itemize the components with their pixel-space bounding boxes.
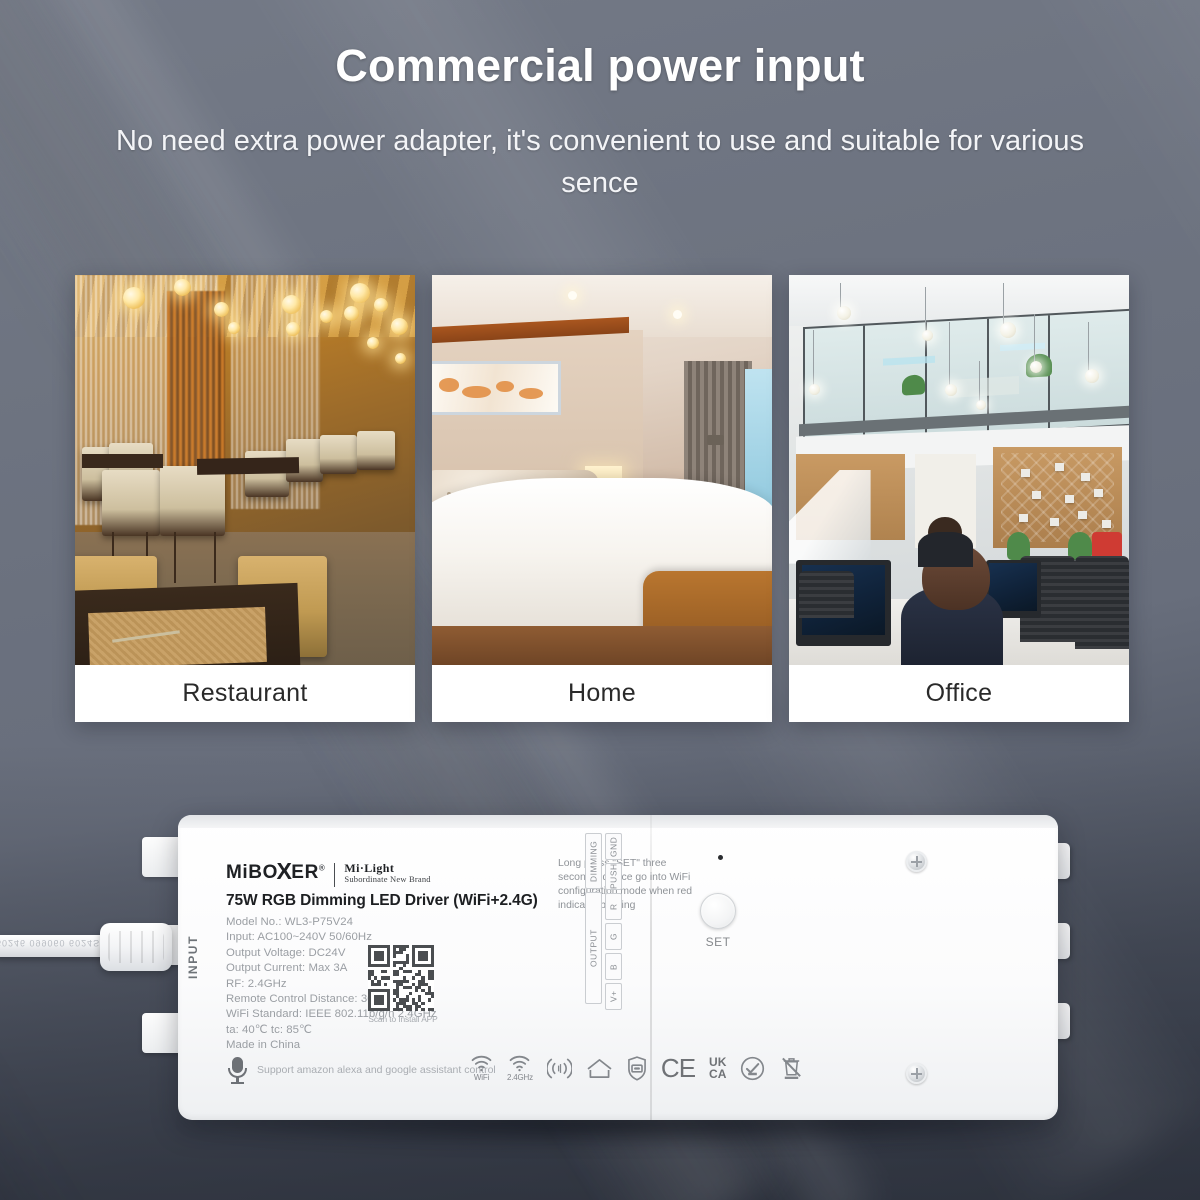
cable-strain-relief — [100, 923, 172, 971]
brand-name: MiBOXER® — [226, 862, 325, 884]
scene-card-list: Restaurant — [75, 275, 1130, 725]
ce-mark-icon: CE — [661, 1053, 695, 1084]
product-device: 60246 099060 6024S INPUT MiBOXER® Mi·Lig… — [0, 795, 1200, 1155]
terminal-pin-push: PUSH — [605, 863, 622, 890]
registered-mark: ® — [319, 864, 326, 873]
spec-item: Made in China — [226, 1038, 437, 1053]
sub-brand-name: Mi·Light — [344, 862, 430, 875]
terminal-block: DIMMING OUTPUT GND PUSH R G B V+ — [585, 833, 622, 1010]
ukca-mark-icon: UK CA — [709, 1057, 726, 1080]
weee-bin-icon — [779, 1056, 804, 1081]
scene-caption-home: Home — [432, 665, 772, 722]
terminal-pin-vplus: V+ — [605, 983, 622, 1010]
brand-logo: MiBOXER® Mi·Light Subordinate New Brand — [226, 862, 431, 887]
screw-top — [906, 851, 927, 872]
page-title: Commercial power input — [0, 40, 1200, 92]
qr-code[interactable] — [368, 945, 434, 1011]
spec-item: Input: AC100~240V 50/60Hz — [226, 930, 437, 945]
certification-icon-row: WiFi 2.4GHz — [470, 1053, 804, 1084]
rohs-check-icon — [740, 1056, 765, 1081]
input-port-label: INPUT — [186, 935, 200, 979]
spec-item: Model No.: WL3-P75V24 — [226, 915, 437, 930]
ukca-line2: CA — [709, 1069, 726, 1081]
scene-card-restaurant: Restaurant — [75, 275, 415, 722]
scene-card-home: Home — [432, 275, 772, 722]
restaurant-photo — [75, 275, 415, 665]
terminal-pin-r: R — [605, 893, 622, 920]
terminal-group-output: OUTPUT — [585, 892, 602, 1004]
class-ii-shield-icon — [627, 1056, 647, 1081]
product-title: 75W RGB Dimming LED Driver (WiFi+2.4G) — [226, 892, 538, 910]
terminal-pin-gnd: GND — [605, 833, 622, 860]
set-button-label: SET — [698, 935, 738, 949]
scene-caption-restaurant: Restaurant — [75, 665, 415, 722]
voice-assistant-support: Support amazon alexa and google assistan… — [228, 1057, 496, 1084]
page-subtitle: No need extra power adapter, it's conven… — [100, 120, 1100, 204]
voice-support-text: Support amazon alexa and google assistan… — [257, 1064, 496, 1077]
terminal-pin-b: B — [605, 953, 622, 980]
setup-instruction-text: Long press "SET" three seconds, device g… — [558, 857, 698, 913]
microphone-icon — [228, 1057, 247, 1084]
status-led-indicator — [718, 855, 723, 860]
home-photo — [432, 275, 772, 665]
indoor-use-house-icon — [586, 1057, 613, 1080]
wifi-icon: WiFi — [470, 1055, 493, 1082]
terminal-group-dimming: DIMMING — [585, 833, 602, 889]
scene-caption-office: Office — [789, 665, 1129, 722]
qr-caption: Scan to Install APP — [368, 1014, 438, 1024]
promo-image: Commercial power input No need extra pow… — [0, 0, 1200, 1200]
screw-bottom — [906, 1063, 927, 1084]
qr-code-block: Scan to Install APP — [368, 945, 438, 1024]
terminal-pin-g: G — [605, 923, 622, 950]
spec-item: ta: 40℃ tc: 85℃ — [226, 1023, 437, 1038]
scene-card-office: Office — [789, 275, 1129, 722]
rf-24ghz-icon: 2.4GHz — [507, 1055, 533, 1082]
set-button[interactable] — [700, 893, 736, 929]
rf-24ghz-label: 2.4GHz — [507, 1073, 533, 1082]
office-photo — [789, 275, 1129, 665]
wifi-label: WiFi — [474, 1073, 489, 1082]
rf-signal-icon — [547, 1056, 572, 1081]
sub-brand-tagline: Subordinate New Brand — [344, 875, 430, 885]
